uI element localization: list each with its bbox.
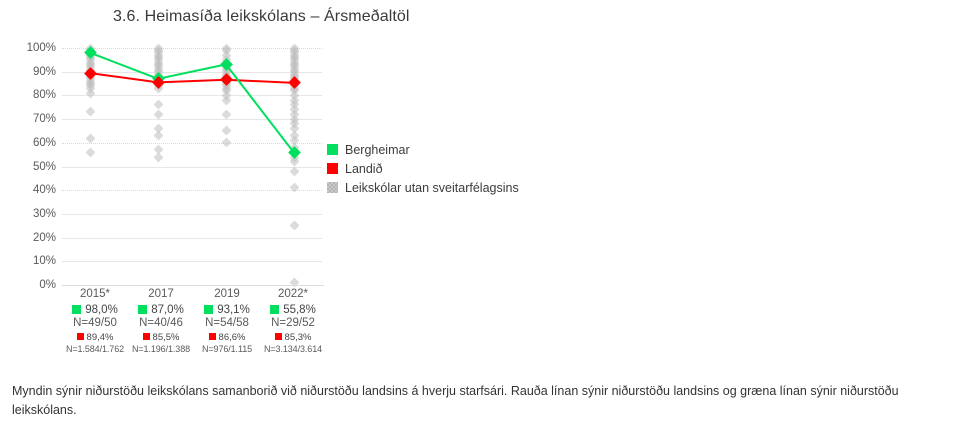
- x-axis-tick-label: 2017: [128, 288, 194, 303]
- landid-value-cell: 86,6%: [194, 331, 260, 344]
- legend-item[interactable]: Bergheimar: [327, 140, 519, 159]
- plot-area: 100%90%80%70%60%50%40%30%20%10%0%: [62, 48, 322, 285]
- bergheimar-value-cell: 98,0%: [62, 303, 128, 317]
- landid-n-cell: N=3.134/3.614: [260, 344, 326, 354]
- series-lines: [62, 48, 322, 285]
- legend-item-label: Leikskólar utan sveitarfélagsins: [345, 181, 519, 195]
- cell-value: 85,3%: [285, 332, 312, 343]
- chart-figure: 3.6. Heimasíða leikskólans – Ársmeðaltöl…: [0, 0, 965, 372]
- y-axis-tick-label: 0%: [10, 280, 56, 292]
- table-row-landid-values: 89,4%85,5%86,6%85,3%: [62, 331, 326, 344]
- series-swatch-icon: [138, 305, 147, 314]
- landid-value-cell: 85,5%: [128, 331, 194, 344]
- series-swatch-icon: [209, 333, 216, 340]
- x-axis-tick-label: 2019: [194, 288, 260, 303]
- bergheimar-value-cell: 93,1%: [194, 303, 260, 317]
- bergheimar-value-cell: 87,0%: [128, 303, 194, 317]
- cell-value: 86,6%: [219, 332, 246, 343]
- y-axis-tick-label: 70%: [10, 114, 56, 126]
- cell-value: 89,4%: [87, 332, 114, 343]
- legend-item-label: Bergheimar: [345, 143, 410, 157]
- legend-swatch-icon: [327, 163, 338, 174]
- y-axis-tick-label: 100%: [10, 43, 56, 55]
- data-table: 2015*201720192022* 98,0%87,0%93,1%55,8% …: [62, 288, 326, 354]
- bergheimar-value-cell: 55,8%: [260, 303, 326, 317]
- landid-n-cell: N=1.584/1.762: [62, 344, 128, 354]
- y-axis-tick-label: 80%: [10, 90, 56, 102]
- y-axis-tick-label: 20%: [10, 233, 56, 245]
- legend-swatch-icon: [327, 182, 338, 193]
- page-title: 3.6. Heimasíða leikskólans – Ársmeðaltöl: [113, 8, 410, 26]
- legend-item[interactable]: Landið: [327, 159, 519, 178]
- cell-value: 85,5%: [153, 332, 180, 343]
- bergheimar-n-cell: N=29/52: [260, 317, 326, 331]
- landid-value-cell: 85,3%: [260, 331, 326, 344]
- table-row-landid-n: N=1.584/1.762N=1.196/1.388N=976/1.115N=3…: [62, 344, 326, 354]
- chart-legend: BergheimarLandiðLeikskólar utan sveitarf…: [327, 140, 519, 197]
- series-swatch-icon: [270, 305, 279, 314]
- bergheimar-n-cell: N=40/46: [128, 317, 194, 331]
- x-axis-line: [62, 285, 324, 286]
- bergheimar-n-cell: N=54/58: [194, 317, 260, 331]
- cell-value: 55,8%: [283, 304, 316, 316]
- series-swatch-icon: [143, 333, 150, 340]
- cell-value: 98,0%: [85, 304, 118, 316]
- series-swatch-icon: [275, 333, 282, 340]
- landid-n-cell: N=976/1.115: [194, 344, 260, 354]
- series-swatch-icon: [204, 305, 213, 314]
- landid-n-cell: N=1.196/1.388: [128, 344, 194, 354]
- line-bergheimar: [90, 53, 294, 153]
- bergheimar-n-cell: N=49/50: [62, 317, 128, 331]
- y-axis-tick-label: 30%: [10, 209, 56, 221]
- legend-item-label: Landið: [345, 162, 383, 176]
- legend-item[interactable]: Leikskólar utan sveitarfélagsins: [327, 178, 519, 197]
- series-swatch-icon: [72, 305, 81, 314]
- y-axis-tick-label: 40%: [10, 185, 56, 197]
- cell-value: 87,0%: [151, 304, 184, 316]
- cell-value: 93,1%: [217, 304, 250, 316]
- footnote-text: Myndin sýnir niðurstöðu leikskólans sama…: [12, 382, 942, 421]
- x-axis-tick-label: 2022*: [260, 288, 326, 303]
- line-landid: [90, 73, 294, 83]
- series-swatch-icon: [77, 333, 84, 340]
- y-axis-tick-label: 60%: [10, 138, 56, 150]
- y-axis-tick-label: 10%: [10, 256, 56, 268]
- legend-swatch-icon: [327, 144, 338, 155]
- y-axis-tick-label: 50%: [10, 162, 56, 174]
- table-row-bergheimar-n: N=49/50N=40/46N=54/58N=29/52: [62, 317, 326, 331]
- table-row-years: 2015*201720192022*: [62, 288, 326, 303]
- landid-value-cell: 89,4%: [62, 331, 128, 344]
- table-row-bergheimar-values: 98,0%87,0%93,1%55,8%: [62, 303, 326, 317]
- y-axis-tick-label: 90%: [10, 67, 56, 79]
- x-axis-tick-label: 2015*: [62, 288, 128, 303]
